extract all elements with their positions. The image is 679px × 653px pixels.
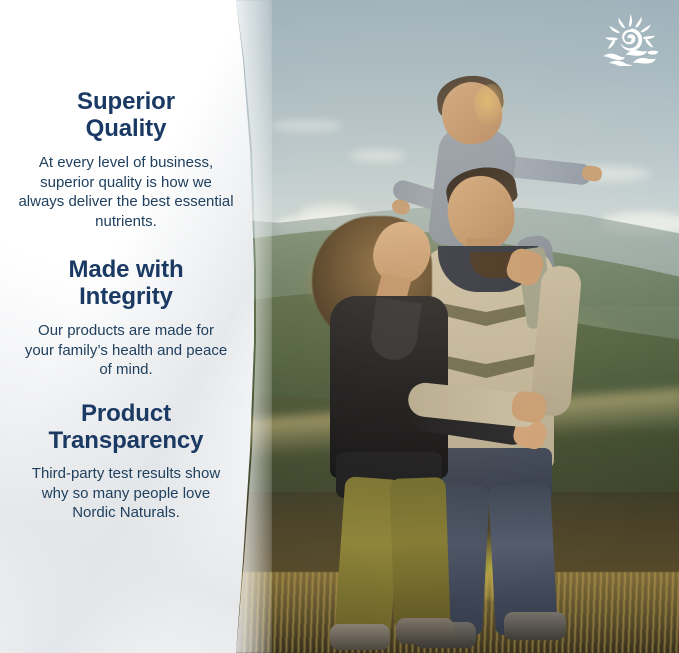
- man-left-hand: [510, 390, 548, 424]
- woman-right-shoe: [396, 618, 454, 644]
- nordic-naturals-logo: [600, 12, 662, 66]
- benefit-body: Third-party test results show why so man…: [0, 464, 252, 523]
- benefit-made-with-integrity: Made withIntegrity Our products are made…: [0, 256, 252, 380]
- benefit-heading-line1: Superior: [77, 88, 175, 115]
- man-right-shoe: [504, 612, 566, 640]
- benefit-heading-line1: Made with: [68, 256, 183, 283]
- benefit-heading-line2: Transparency: [49, 427, 204, 454]
- woman-left-shoe: [330, 624, 390, 650]
- woman-right-trouser-leg: [389, 477, 450, 631]
- benefit-heading: SuperiorQuality: [0, 88, 252, 142]
- benefit-heading-line2: Integrity: [79, 283, 173, 310]
- benefit-heading-line1: Product: [81, 400, 171, 427]
- benefit-product-transparency: ProductTransparency Third-party test res…: [0, 400, 252, 523]
- child-hair-highlight: [474, 84, 508, 126]
- benefit-superior-quality: SuperiorQuality At every level of busine…: [0, 88, 252, 231]
- benefit-body: At every level of business, superior qua…: [0, 153, 252, 231]
- benefits-content: SuperiorQuality At every level of busine…: [0, 0, 252, 653]
- promotional-banner: SuperiorQuality At every level of busine…: [0, 0, 679, 653]
- benefit-body: Our products are made for your family’s …: [0, 321, 252, 380]
- benefit-heading: Made withIntegrity: [0, 256, 252, 310]
- benefit-heading-line2: Quality: [86, 115, 167, 142]
- benefit-heading: ProductTransparency: [0, 400, 252, 454]
